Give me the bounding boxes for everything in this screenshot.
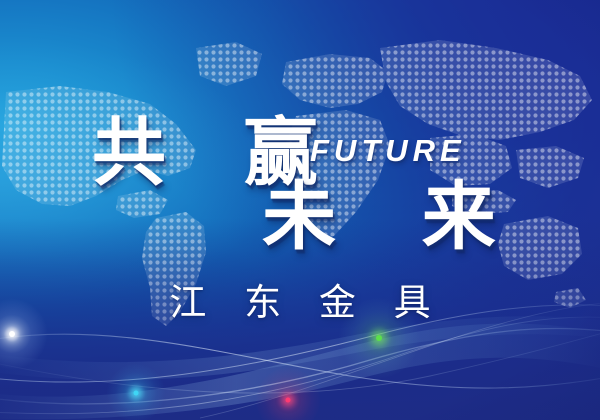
light-ribbon-curves (0, 0, 600, 420)
promo-banner: 共 赢 FUTURE 未 来 江 东 金 具 (0, 0, 600, 420)
